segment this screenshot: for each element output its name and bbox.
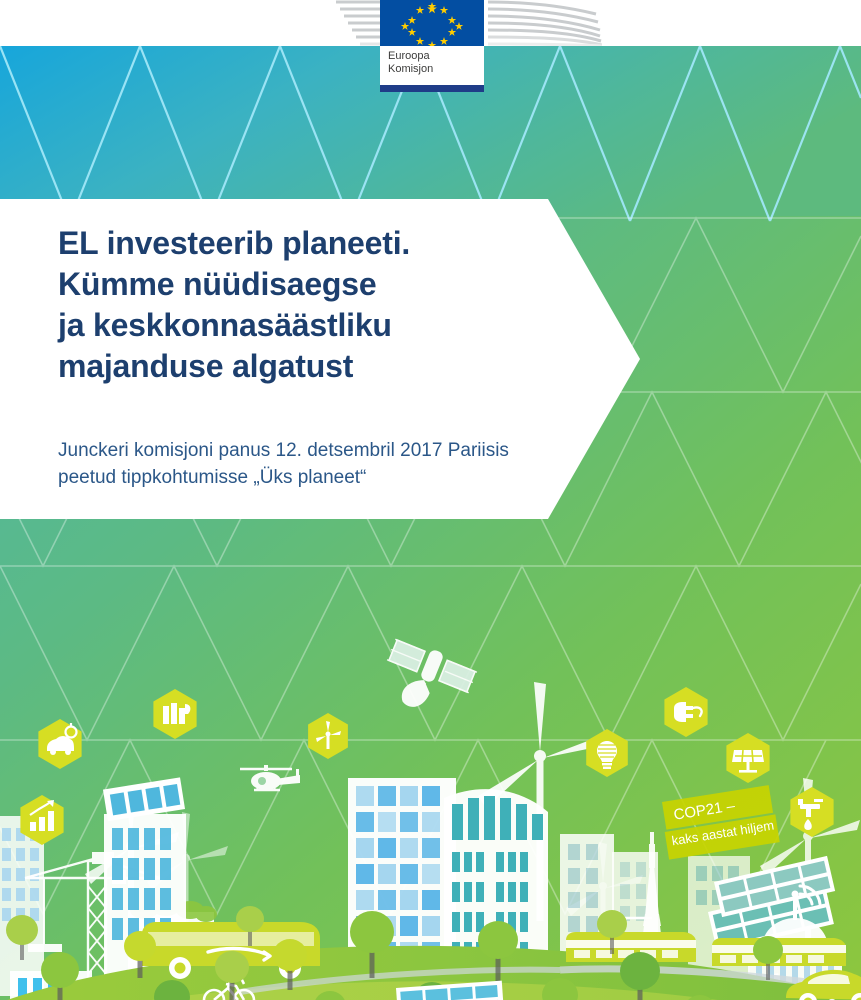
- commission-line-2: Komisjon: [388, 63, 433, 75]
- page-title: EL investeerib planeeti. Kümme nüüdisaeg…: [58, 223, 598, 387]
- title-line-4: majanduse algatust: [58, 346, 598, 387]
- title-panel: EL investeerib planeeti. Kümme nüüdisaeg…: [0, 199, 640, 519]
- logo-underbar: [380, 85, 484, 92]
- eu-flag: [380, 0, 484, 46]
- stripe-motif-left: [330, 0, 380, 46]
- logo-band: [0, 0, 861, 46]
- commission-wordmark-text: Euroopa Komisjon: [388, 50, 433, 76]
- page-subtitle: Junckeri komisjoni panus 12. detsembril …: [58, 437, 603, 491]
- title-line-3: ja keskkonnasäästliku: [58, 305, 598, 346]
- title-line-2: Kümme nüüdisaegse: [58, 264, 598, 305]
- background-graphics: [0, 46, 861, 1000]
- title-line-1: EL investeerib planeeti.: [58, 223, 598, 264]
- document-cover: COP21 – kaks aastat hiljem EL investeeri…: [0, 0, 861, 1000]
- commission-line-1: Euroopa: [388, 50, 430, 62]
- subtitle-line-2: peetud tippkohtumisse „Üks planeet“: [58, 464, 603, 491]
- subtitle-line-1: Junckeri komisjoni panus 12. detsembril …: [58, 437, 603, 464]
- stripe-motif-right: [484, 0, 602, 46]
- cover-background: COP21 – kaks aastat hiljem: [0, 46, 861, 1000]
